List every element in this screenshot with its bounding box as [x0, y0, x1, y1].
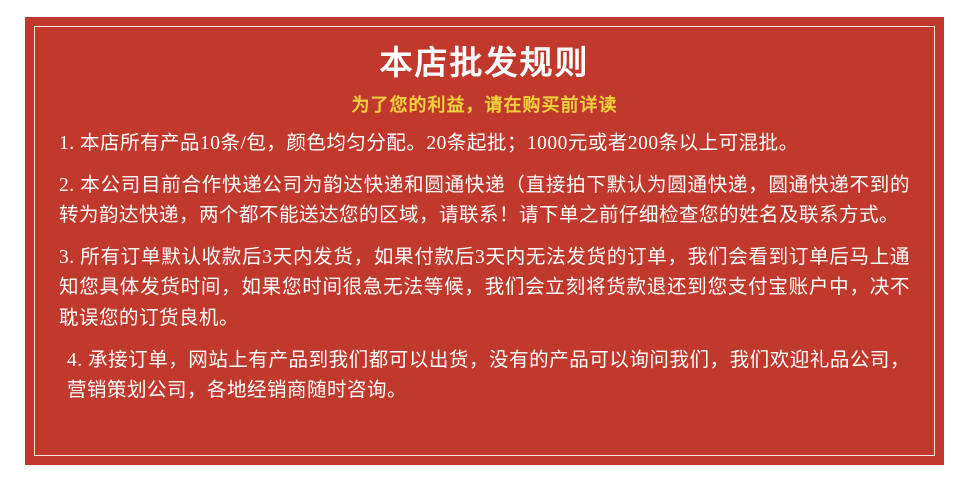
list-item: 3. 所有订单默认收款后3天内发货，如果付款后3天内无法发货的订单，我们会看到订…: [59, 243, 910, 334]
rules-list: 1. 本店所有产品10条/包，颜色均匀分配。20条起批；1000元或者200条以…: [59, 129, 910, 407]
page-subtitle: 为了您的利益，请在购买前详读: [59, 91, 910, 117]
page-title: 本店批发规则: [59, 45, 910, 85]
list-item: 4. 承接订单，网站上有产品到我们都可以出货，没有的产品可以询问我们，我们欢迎礼…: [59, 346, 910, 406]
list-item: 2. 本公司目前合作快递公司为韵达快递和圆通快递（直接拍下默认为圆通快递，圆通快…: [59, 171, 910, 231]
poster-inner-frame: 本店批发规则 为了您的利益，请在购买前详读 1. 本店所有产品10条/包，颜色均…: [34, 26, 935, 456]
list-item: 1. 本店所有产品10条/包，颜色均匀分配。20条起批；1000元或者200条以…: [59, 129, 910, 159]
wholesale-rules-poster: 本店批发规则 为了您的利益，请在购买前详读 1. 本店所有产品10条/包，颜色均…: [22, 14, 947, 468]
